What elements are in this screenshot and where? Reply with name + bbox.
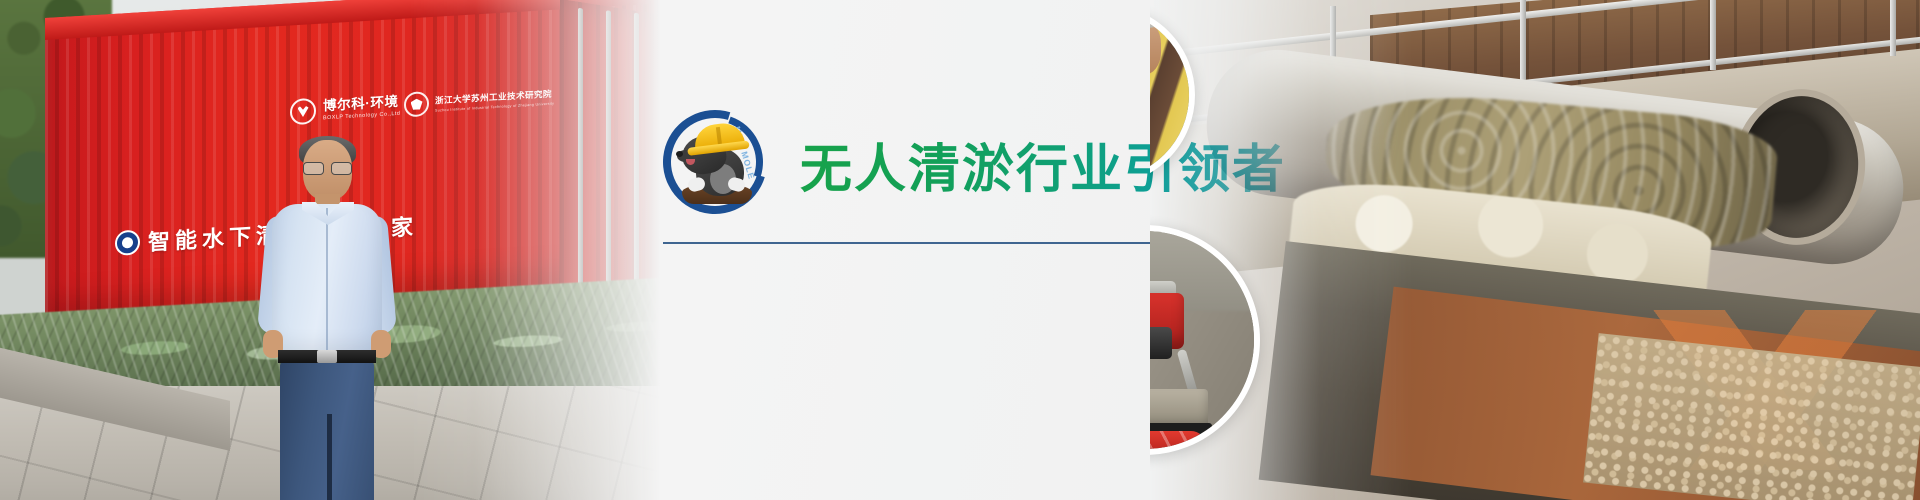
- inset-photo-dredging-robot: [1150, 225, 1260, 455]
- hard-hat-rib: [716, 127, 722, 147]
- inset-photo-operator: [1150, 5, 1195, 185]
- zju-institute-seal-icon: [404, 91, 429, 117]
- hero-banner: 博尔科·环境 BOXLP Technology Co.,Ltd 浙江大学苏州工业…: [0, 0, 1920, 500]
- center-brand-block: MUD MOLE 无人清淤行业引领者: [663, 105, 1183, 275]
- left-photo: 博尔科·环境 BOXLP Technology Co.,Ltd 浙江大学苏州工业…: [0, 0, 660, 500]
- guardrail-post: [1520, 0, 1526, 84]
- guardrail-post: [1890, 0, 1896, 56]
- mole-nose: [676, 151, 683, 157]
- robot-drive-unit: [1150, 327, 1172, 359]
- boxlp-seal-icon: [290, 98, 316, 126]
- person-shirt: [272, 204, 382, 356]
- eyeglasses: [303, 162, 352, 173]
- sludge-discharge-photo: [1150, 0, 1920, 500]
- headline-divider: [663, 242, 1158, 244]
- mole-mascot-icon: [680, 122, 752, 204]
- slogan-badge-icon: [115, 229, 140, 255]
- belt-buckle: [317, 350, 337, 363]
- person-jeans: [280, 360, 374, 500]
- person-standing: [262, 140, 392, 500]
- right-media-zone: [1150, 0, 1920, 500]
- mud-mole-logo: MUD MOLE: [663, 110, 767, 214]
- guardrail-post: [1710, 0, 1716, 70]
- hard-hat-icon: [693, 121, 746, 152]
